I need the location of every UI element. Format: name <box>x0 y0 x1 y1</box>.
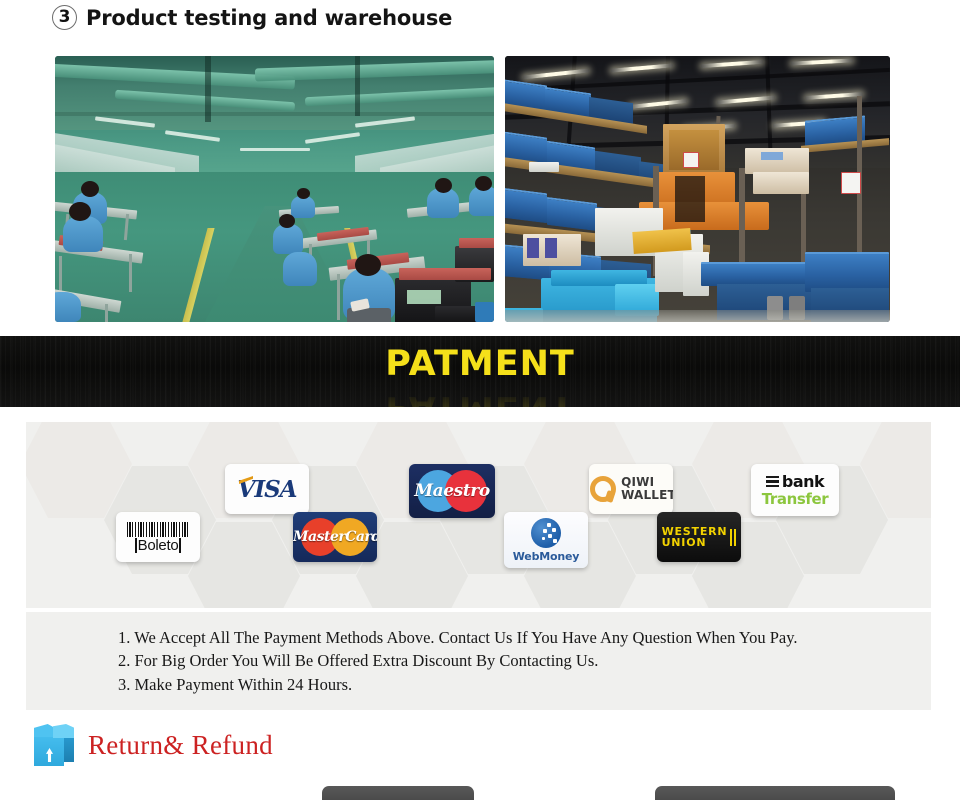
webmoney-label: WebMoney <box>513 550 579 563</box>
payment-method-visa[interactable]: VISA <box>225 464 309 514</box>
payment-method-qiwi-wallet[interactable]: QIWI WALLET <box>589 464 673 514</box>
bank-transfer-icon <box>766 476 779 488</box>
payment-method-western-union[interactable]: WESTERN UNION <box>657 512 741 562</box>
payment-method-bank-transfer[interactable]: bank Transfer <box>751 464 839 516</box>
return-refund-title: Return& Refund <box>88 730 273 761</box>
payment-method-mastercard[interactable]: MasterCard <box>293 512 377 562</box>
bottom-tab-stub-right[interactable] <box>655 786 895 800</box>
factory-assembly-line-photo <box>55 56 494 322</box>
payment-terms-panel: 1. We Accept All The Payment Methods Abo… <box>26 612 931 710</box>
boleto-label: Boleto <box>135 538 182 553</box>
payment-banner: PATMENT PATMENT <box>0 336 960 407</box>
package-return-box-icon <box>34 724 74 766</box>
step-number-badge: 3 <box>52 5 77 30</box>
qiwi-wallet-icon <box>590 476 616 502</box>
mastercard-label: MasterCard <box>293 529 377 545</box>
return-refund-heading: Return& Refund <box>34 724 273 766</box>
bottom-tab-stub-left[interactable] <box>322 786 474 800</box>
payment-term-3: 3. Make Payment Within 24 Hours. <box>118 673 931 696</box>
webmoney-icon <box>531 518 561 548</box>
section-heading: 3 Product testing and warehouse <box>52 5 452 30</box>
bank-transfer-label-line1: bank <box>782 472 824 491</box>
qiwi-label-line2: WALLET <box>621 489 673 502</box>
bank-transfer-label-line2: Transfer <box>762 490 829 508</box>
payment-term-2: 2. For Big Order You Will Be Offered Ext… <box>118 649 931 672</box>
maestro-label: Maestro <box>409 481 495 501</box>
product-detail-page: 3 Product testing and warehouse <box>0 0 960 800</box>
payment-method-webmoney[interactable]: WebMoney <box>504 512 588 568</box>
western-union-icon: WESTERN UNION <box>662 526 737 548</box>
payment-methods-panel: Boleto VISA MasterCard Maestro <box>26 422 931 608</box>
western-union-label-line2: UNION <box>662 537 728 548</box>
payment-method-boleto[interactable]: Boleto <box>116 512 200 562</box>
payment-banner-title: PATMENT <box>0 344 960 384</box>
page-title: Product testing and warehouse <box>86 6 452 30</box>
boleto-icon <box>127 522 189 537</box>
payment-method-maestro[interactable]: Maestro <box>409 464 495 518</box>
payment-term-1: 1. We Accept All The Payment Methods Abo… <box>118 626 931 649</box>
warehouse-storage-photo <box>505 56 890 322</box>
payment-banner-reflection: PATMENT <box>0 388 960 407</box>
